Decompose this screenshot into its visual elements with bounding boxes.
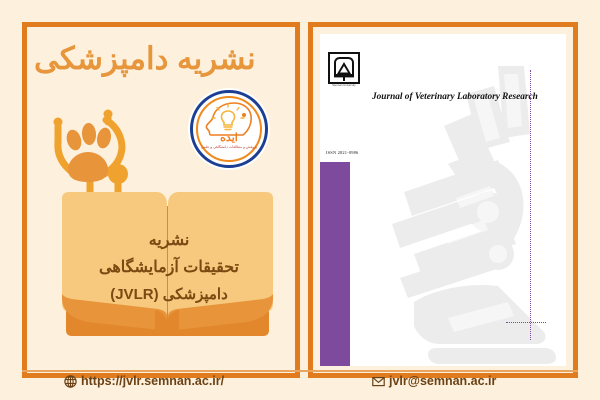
issn-label: ISSN 2821-0986: [326, 150, 358, 155]
envelope-icon: [372, 375, 385, 388]
dotted-horizontal-rule: [506, 322, 546, 323]
cover-purple-stripe: [320, 162, 350, 366]
badge-subtitle: پژوهش و مطالعات دانشگاهی و علمی: [193, 145, 265, 149]
globe-icon: [64, 375, 77, 388]
microscope-illustration: [348, 64, 566, 366]
email-text: jvlr@semnan.ac.ir: [389, 374, 496, 388]
dotted-vertical-rule: [530, 70, 531, 340]
badge-title: ایده: [193, 133, 265, 144]
cover-title: Journal of Veterinary Laboratory Researc…: [372, 86, 552, 108]
book-title-line-3: دامپزشکی (JVLR): [74, 286, 264, 304]
website-link[interactable]: https://jvlr.semnan.ac.ir/: [64, 374, 224, 388]
page-title: نشریه دامپزشکی: [34, 30, 290, 88]
journal-poster: نشریه دامپزشکی: [0, 0, 600, 400]
book-title-block: نشریه تحقیقات آزمایشگاهی دامپزشکی (JVLR): [74, 200, 264, 335]
journal-cover: Semnan University ISSN 2821-0986 Journal…: [320, 34, 566, 366]
email-link[interactable]: jvlr@semnan.ac.ir: [372, 374, 496, 388]
book-title-line-1: نشریه: [74, 232, 264, 250]
brain-lightbulb-icon: [203, 102, 255, 136]
idea-logo-badge: ایده پژوهش و مطالعات دانشگاهی و علمی: [190, 90, 268, 168]
website-text: https://jvlr.semnan.ac.ir/: [81, 374, 224, 388]
semnan-university-logo: [328, 52, 360, 84]
university-logo-caption: Semnan University: [322, 84, 366, 87]
footer-divider: [22, 370, 578, 372]
book-title-line-2: تحقیقات آزمایشگاهی: [74, 259, 264, 277]
